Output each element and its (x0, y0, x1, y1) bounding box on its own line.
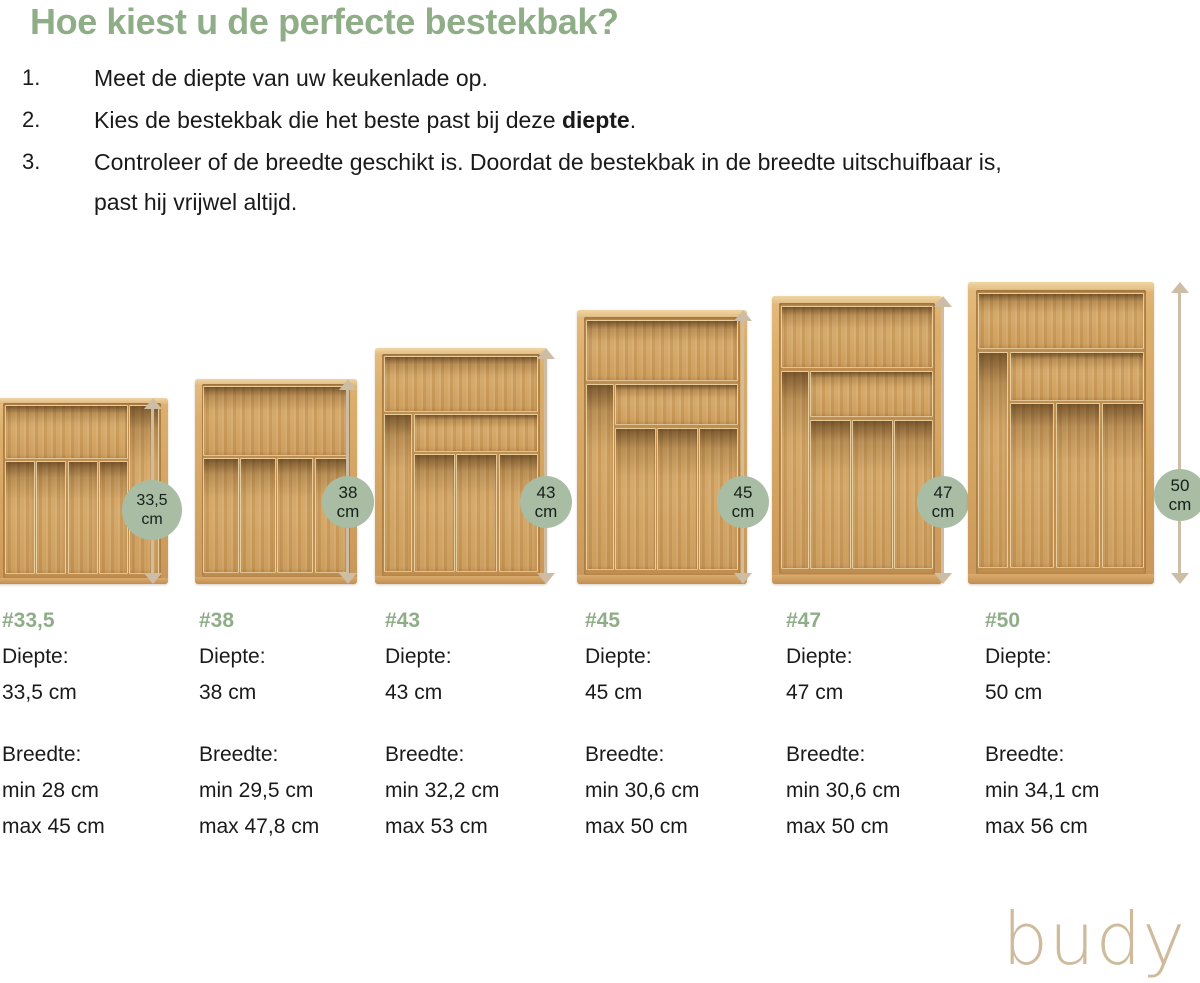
compartment (1010, 352, 1145, 400)
compartment (240, 458, 276, 574)
width-min-value: min 30,6 cm (585, 773, 780, 809)
product-sku: #43 (385, 607, 580, 635)
arrow-head-up-icon (934, 296, 952, 307)
compartment (978, 352, 1009, 568)
depth-value: 38 cm (199, 675, 384, 711)
depth-value: 47 cm (786, 675, 981, 711)
badge-unit: cm (337, 502, 360, 521)
width-min-value: min 34,1 cm (985, 773, 1185, 809)
width-label: Breedte: (2, 737, 187, 773)
compartment (615, 384, 738, 425)
tray-bottom-lip (577, 575, 747, 584)
depth-badge-0: 33,5 cm (122, 480, 182, 540)
arrow-shaft (544, 357, 547, 575)
tray-compartments (584, 317, 740, 575)
arrow-head-up-icon (734, 310, 752, 321)
arrow-head-down-icon (537, 573, 555, 584)
tray-image-3 (577, 310, 747, 584)
arrow-head-up-icon (339, 379, 357, 390)
spec-block-2: #43 Diepte: 43 cm Breedte: min 32,2 cm m… (385, 607, 580, 845)
dimension-arrow-1: 38 cm (335, 379, 361, 584)
arrow-head-down-icon (144, 573, 162, 584)
depth-badge-3: 45 cm (717, 476, 769, 528)
badge-value: 45 (734, 483, 753, 502)
depth-badge-1: 38 cm (322, 476, 374, 528)
compartment (414, 454, 455, 572)
compartment (277, 458, 313, 574)
tray-image-2 (375, 348, 547, 584)
arrow-head-down-icon (1171, 573, 1189, 584)
compartment (615, 428, 655, 570)
compartment (384, 356, 538, 411)
product-sku: #50 (985, 607, 1185, 635)
depth-label: Diepte: (985, 639, 1185, 675)
badge-unit: cm (535, 502, 558, 521)
arrow-shaft (741, 319, 744, 575)
product-sku: #47 (786, 607, 981, 635)
spec-block-5: #50 Diepte: 50 cm Breedte: min 34,1 cm m… (985, 607, 1185, 845)
product-sku: #38 (199, 607, 384, 635)
compartment (68, 461, 98, 575)
dimension-arrow-2: 43 cm (533, 348, 559, 584)
arrow-head-down-icon (339, 573, 357, 584)
compartment (781, 306, 934, 368)
width-max-value: max 50 cm (585, 809, 780, 845)
compartment (657, 428, 697, 570)
depth-label: Diepte: (585, 639, 780, 675)
tray-compartments (976, 290, 1146, 574)
spec-block-1: #38 Diepte: 38 cm Breedte: min 29,5 cm m… (199, 607, 384, 845)
depth-label: Diepte: (786, 639, 981, 675)
compartment (456, 454, 497, 572)
badge-value: 50 (1171, 476, 1190, 495)
badge-value: 38 (339, 483, 358, 502)
product-sku: #33,5 (2, 607, 187, 635)
compartment (1010, 403, 1054, 568)
badge-value: 43 (537, 483, 556, 502)
tray-compartments (779, 303, 935, 574)
width-max-value: max 45 cm (2, 809, 187, 845)
product-sku: #45 (585, 607, 780, 635)
tray-image-5 (968, 282, 1154, 584)
width-label: Breedte: (199, 737, 384, 773)
tray-compartments (382, 354, 540, 576)
compartment (978, 293, 1145, 350)
compartment (810, 420, 850, 569)
tray-bottom-lip (195, 577, 357, 584)
width-label: Breedte: (985, 737, 1185, 773)
width-label: Breedte: (585, 737, 780, 773)
width-label: Breedte: (786, 737, 981, 773)
dimension-arrow-3: 45 cm (730, 310, 756, 584)
depth-value: 43 cm (385, 675, 580, 711)
compartment (1056, 403, 1100, 568)
badge-unit: cm (932, 502, 955, 521)
width-min-value: min 32,2 cm (385, 773, 580, 809)
depth-badge-5: 50 cm (1154, 469, 1200, 521)
spec-block-0: #33,5 Diepte: 33,5 cm Breedte: min 28 cm… (2, 607, 187, 845)
compartment (781, 371, 809, 569)
product-comparison-row: 33,5 cm #33,5 Diepte: 33,5 cm Breedte: m… (0, 0, 1200, 983)
arrow-shaft (941, 305, 944, 575)
width-max-value: max 53 cm (385, 809, 580, 845)
dimension-arrow-5: 50 cm (1167, 282, 1193, 584)
compartment (852, 420, 892, 569)
width-min-value: min 28 cm (2, 773, 187, 809)
width-label: Breedte: (385, 737, 580, 773)
width-max-value: max 56 cm (985, 809, 1185, 845)
depth-value: 33,5 cm (2, 675, 187, 711)
arrow-shaft (1178, 291, 1181, 575)
depth-label: Diepte: (199, 639, 384, 675)
spec-block-4: #47 Diepte: 47 cm Breedte: min 30,6 cm m… (786, 607, 981, 845)
badge-unit: cm (732, 502, 755, 521)
badge-value: 33,5 (136, 491, 167, 510)
compartment (1102, 403, 1145, 568)
badge-unit: cm (141, 510, 162, 529)
width-min-value: min 30,6 cm (786, 773, 981, 809)
tray-bottom-lip (772, 575, 942, 584)
tray-bottom-lip (375, 576, 547, 584)
depth-label: Diepte: (385, 639, 580, 675)
tray-bottom-lip (968, 574, 1154, 584)
compartment (5, 461, 35, 575)
depth-badge-2: 43 cm (520, 476, 572, 528)
depth-badge-4: 47 cm (917, 476, 969, 528)
width-min-value: min 29,5 cm (199, 773, 384, 809)
tray-image-4 (772, 296, 942, 584)
dimension-arrow-4: 47 cm (930, 296, 956, 584)
compartment (414, 414, 538, 452)
width-max-value: max 47,8 cm (199, 809, 384, 845)
depth-value: 50 cm (985, 675, 1185, 711)
compartment (36, 461, 66, 575)
width-max-value: max 50 cm (786, 809, 981, 845)
tray-compartments (202, 384, 350, 577)
compartment (810, 371, 933, 417)
badge-value: 47 (934, 483, 953, 502)
arrow-head-down-icon (934, 573, 952, 584)
arrow-head-up-icon (537, 348, 555, 359)
arrow-head-up-icon (144, 398, 162, 409)
badge-unit: cm (1169, 495, 1192, 514)
spec-block-3: #45 Diepte: 45 cm Breedte: min 30,6 cm m… (585, 607, 780, 845)
depth-value: 45 cm (585, 675, 780, 711)
compartment (203, 386, 348, 455)
arrow-head-down-icon (734, 573, 752, 584)
compartment (384, 414, 412, 572)
compartment (586, 320, 739, 382)
arrow-head-up-icon (1171, 282, 1189, 293)
brand-logo: budy (1002, 903, 1186, 975)
dimension-arrow-0: 33,5 cm (140, 398, 166, 584)
compartment (586, 384, 614, 569)
compartment (203, 458, 239, 574)
depth-label: Diepte: (2, 639, 187, 675)
compartment (5, 405, 128, 459)
